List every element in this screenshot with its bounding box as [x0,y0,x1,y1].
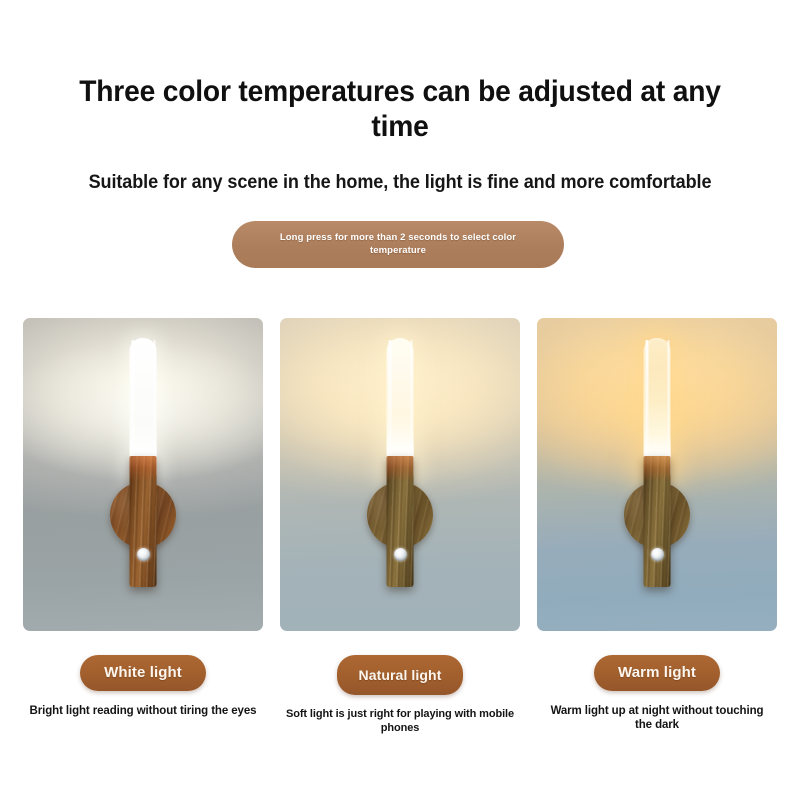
wall-lamp-icon [352,318,448,631]
mode-chip-warm-light[interactable]: Warm light [594,655,720,691]
wooden-body-bar [644,456,671,587]
mode-chip-white-light[interactable]: White light [80,655,206,691]
long-press-hint-banner: Long press for more than 2 seconds to se… [232,221,564,268]
mode-description: Bright light reading without tiring the … [29,704,257,718]
product-feature-page: Three color temperatures can be adjusted… [0,0,800,800]
mode-chip-label: Warm light [618,665,696,680]
wooden-body-bar [387,456,414,587]
long-press-hint-text: Long press for more than 2 seconds to se… [258,232,538,256]
wall-lamp-icon [95,318,191,631]
lit-band [644,456,671,481]
product-photo-row [23,318,777,631]
mode-description: Warm light up at night without touching … [543,704,771,733]
mode-caption-white: White light Bright light reading without… [23,655,263,735]
page-subtitle: Suitable for any scene in the home, the … [49,172,752,194]
wall-lamp-icon [609,318,705,631]
wooden-body-bar [130,456,157,587]
page-title: Three color temperatures can be adjusted… [62,74,739,144]
sensor-button-icon [394,548,407,561]
mode-caption-natural: Natural light Soft light is just right f… [280,655,520,735]
product-photo-white-light [23,318,263,631]
product-photo-natural-light [280,318,520,631]
lit-band [387,456,414,481]
mode-chip-label: White light [104,665,182,680]
mode-description: Soft light is just right for playing wit… [266,708,534,735]
lit-band [130,456,157,481]
sensor-button-icon [651,548,664,561]
mode-chip-natural-light[interactable]: Natural light [337,655,464,695]
mode-chip-label: Natural light [359,668,442,683]
product-photo-warm-light [537,318,777,631]
sensor-button-icon [137,548,150,561]
mode-caption-warm: Warm light Warm light up at night withou… [537,655,777,735]
mode-caption-row: White light Bright light reading without… [23,655,777,735]
